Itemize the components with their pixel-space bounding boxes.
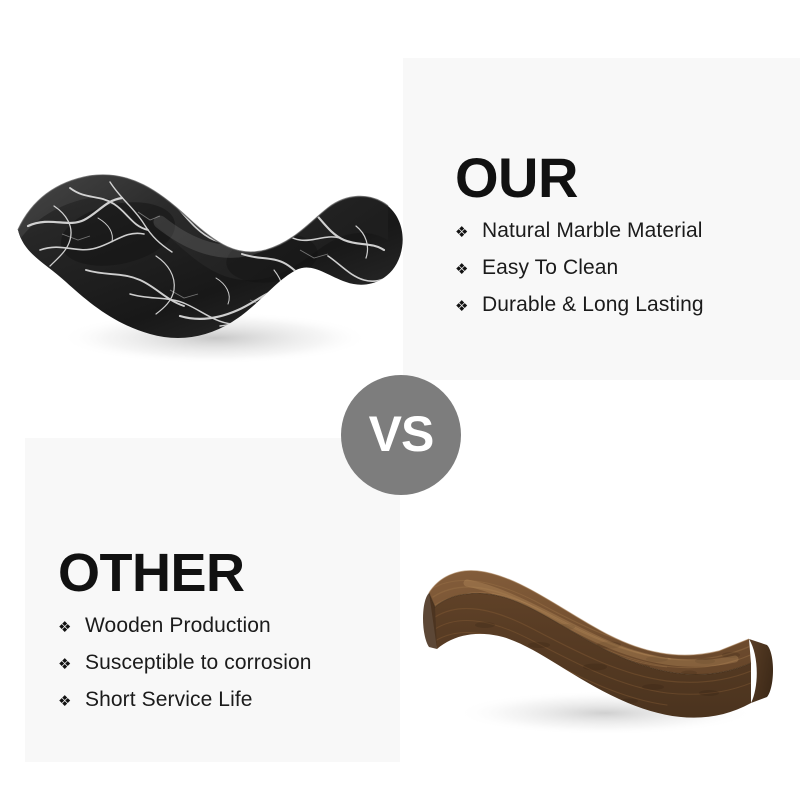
feature-label: Natural Marble Material (482, 220, 703, 241)
diamond-bullet-icon: ❖ (455, 262, 482, 277)
diamond-bullet-icon: ❖ (58, 620, 85, 635)
heading-other: OTHER (58, 546, 245, 600)
feature-label: Short Service Life (85, 689, 253, 710)
list-item: ❖ Durable & Long Lasting (455, 294, 704, 331)
vs-label: VS (369, 409, 434, 459)
heading-our: OUR (455, 150, 578, 206)
vs-badge: VS (341, 375, 461, 495)
feature-list-our: ❖ Natural Marble Material ❖ Easy To Clea… (455, 220, 704, 331)
feature-label: Easy To Clean (482, 257, 618, 278)
product-image-wood (405, 535, 780, 750)
feature-label: Wooden Production (85, 615, 271, 636)
product-image-marble (10, 130, 410, 380)
diamond-bullet-icon: ❖ (58, 657, 85, 672)
feature-list-other: ❖ Wooden Production ❖ Susceptible to cor… (58, 615, 312, 726)
feature-label: Susceptible to corrosion (85, 652, 312, 673)
list-item: ❖ Wooden Production (58, 615, 312, 652)
feature-label: Durable & Long Lasting (482, 294, 704, 315)
diamond-bullet-icon: ❖ (455, 299, 482, 314)
list-item: ❖ Short Service Life (58, 689, 312, 726)
diamond-bullet-icon: ❖ (455, 225, 482, 240)
list-item: ❖ Easy To Clean (455, 257, 704, 294)
comparison-infographic: OUR ❖ Natural Marble Material ❖ Easy To … (0, 0, 800, 800)
list-item: ❖ Susceptible to corrosion (58, 652, 312, 689)
diamond-bullet-icon: ❖ (58, 694, 85, 709)
list-item: ❖ Natural Marble Material (455, 220, 704, 257)
